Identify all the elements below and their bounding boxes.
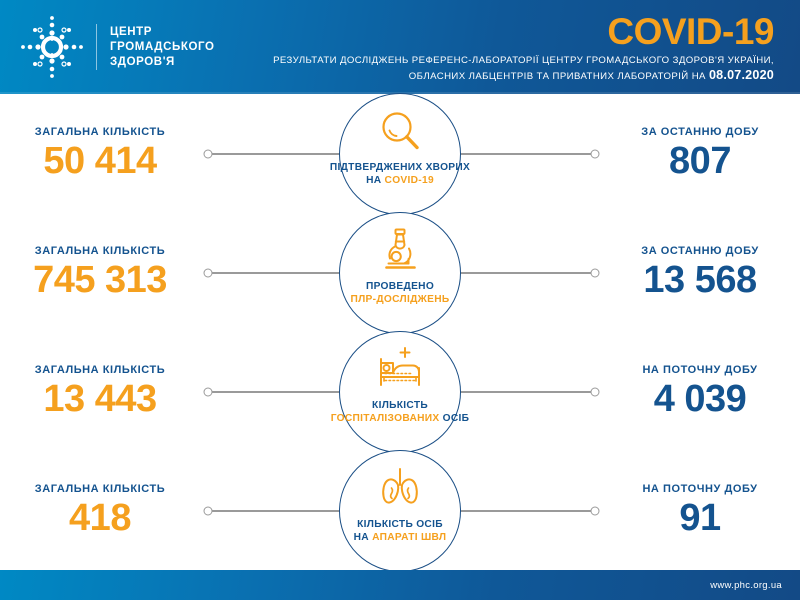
medallion-label-line-2: НА COVID-19 xyxy=(330,174,470,187)
stat-value: 745 313 xyxy=(0,259,200,301)
medallion-label-line-2-highlight: ПЛР-ДОСЛІДЖЕНЬ xyxy=(350,294,449,305)
stat-value: 50 414 xyxy=(0,140,200,182)
medallion-label-line-1: ПІДТВЕРДЖЕНИХ ХВОРИХ xyxy=(330,161,470,174)
connector-line-right xyxy=(447,272,595,274)
stat-medallion-ventilator: КІЛЬКІСТЬ ОСІБ НА АПАРАТІ ШВЛ xyxy=(339,450,461,572)
medallion-label-line-2-highlight: АПАРАТІ ШВЛ xyxy=(372,532,446,543)
stat-row-pcr-tests: ЗАГАЛЬНА КІЛЬКІСТЬ 745 313 xyxy=(0,213,800,332)
stat-medallion-pcr-tests: ПРОВЕДЕНО ПЛР-ДОСЛІДЖЕНЬ xyxy=(339,212,461,334)
header-title-block: COVID-19 РЕЗУЛЬТАТИ ДОСЛІДЖЕНЬ РЕФЕРЕНС-… xyxy=(215,11,800,84)
page-header: ЦЕНТР ГРОМАДСЬКОГО ЗДОРОВ'Я COVID-19 РЕЗ… xyxy=(0,0,800,94)
medallion-label-line-2-suffix: ОСІБ xyxy=(440,413,470,424)
stat-caption: ЗАГАЛЬНА КІЛЬКІСТЬ xyxy=(0,245,200,257)
header-subtitle-line-1: РЕЗУЛЬТАТИ ДОСЛІДЖЕНЬ РЕФЕРЕНС-ЛАБОРАТОР… xyxy=(215,54,774,68)
medallion-label-line-1: КІЛЬКІСТЬ ОСІБ xyxy=(354,518,447,531)
connector-line-right xyxy=(447,391,595,393)
brand-name-line-2: ГРОМАДСЬКОГО xyxy=(110,40,215,55)
stat-caption: ЗАГАЛЬНА КІЛЬКІСТЬ xyxy=(0,364,200,376)
connector-line-right xyxy=(447,153,595,155)
stat-daily-block: ЗА ОСТАННЮ ДОБУ 807 xyxy=(600,126,800,182)
stat-medallion-hospitalized: КІЛЬКІСТЬ ГОСПІТАЛІЗОВАНИХ ОСІБ xyxy=(339,331,461,453)
magnifier-icon xyxy=(372,106,428,156)
footer-website-url[interactable]: www.phc.org.ua xyxy=(710,580,800,591)
medallion-label-line-1: КІЛЬКІСТЬ xyxy=(331,399,470,412)
connector-dot-left xyxy=(204,149,213,158)
infographic-page: ЦЕНТР ГРОМАДСЬКОГО ЗДОРОВ'Я COVID-19 РЕЗ… xyxy=(0,0,800,600)
page-footer: www.phc.org.ua xyxy=(0,570,800,600)
microscope-icon xyxy=(372,225,428,275)
stats-rows: ЗАГАЛЬНА КІЛЬКІСТЬ 50 414 ПІДТВЕРДЖЕНИХ … xyxy=(0,94,800,570)
connector-dot-right xyxy=(591,506,600,515)
connector-line-left xyxy=(208,153,356,155)
stat-total-block: ЗАГАЛЬНА КІЛЬКІСТЬ 418 xyxy=(0,483,200,539)
stat-daily-block: ЗА ОСТАННЮ ДОБУ 13 568 xyxy=(600,245,800,301)
stat-caption: ЗА ОСТАННЮ ДОБУ xyxy=(600,245,800,257)
stat-value: 4 039 xyxy=(600,378,800,420)
header-subtitle-line-2-text: ОБЛАСНИХ ЛАБЦЕНТРІВ ТА ПРИВАТНИХ ЛАБОРАТ… xyxy=(409,71,706,82)
medallion-label: ПІДТВЕРДЖЕНИХ ХВОРИХ НА COVID-19 xyxy=(330,161,470,187)
hospital-bed-icon xyxy=(372,344,428,394)
medallion-label-line-2-prefix: НА xyxy=(366,175,384,186)
stat-caption: НА ПОТОЧНУ ДОБУ xyxy=(600,364,800,376)
connector-dot-left xyxy=(204,506,213,515)
medallion-label-line-2: ПЛР-ДОСЛІДЖЕНЬ xyxy=(350,293,449,306)
stat-caption: ЗА ОСТАННЮ ДОБУ xyxy=(600,126,800,138)
page-title: COVID-19 xyxy=(215,13,774,51)
medallion-label: КІЛЬКІСТЬ ОСІБ НА АПАРАТІ ШВЛ xyxy=(354,518,447,544)
connector-dot-right xyxy=(591,149,600,158)
medallion-label: КІЛЬКІСТЬ ГОСПІТАЛІЗОВАНИХ ОСІБ xyxy=(331,399,470,425)
stat-daily-block: НА ПОТОЧНУ ДОБУ 91 xyxy=(600,483,800,539)
report-date: 08.07.2020 xyxy=(709,68,774,82)
connector-line-left xyxy=(208,391,356,393)
brand-name-line-1: ЦЕНТР xyxy=(110,25,215,40)
medallion-label-line-2: НА АПАРАТІ ШВЛ xyxy=(354,531,447,544)
stat-row-confirmed-cases: ЗАГАЛЬНА КІЛЬКІСТЬ 50 414 ПІДТВЕРДЖЕНИХ … xyxy=(0,94,800,213)
stat-medallion-confirmed-cases: ПІДТВЕРДЖЕНИХ ХВОРИХ НА COVID-19 xyxy=(339,93,461,215)
connector-dot-right xyxy=(591,268,600,277)
medallion-label-line-2-highlight: COVID-19 xyxy=(385,175,434,186)
stat-caption: ЗАГАЛЬНА КІЛЬКІСТЬ xyxy=(0,126,200,138)
radial-dot-burst-logo-icon xyxy=(18,13,86,81)
stat-total-block: ЗАГАЛЬНА КІЛЬКІСТЬ 13 443 xyxy=(0,364,200,420)
brand-logo: ЦЕНТР ГРОМАДСЬКОГО ЗДОРОВ'Я xyxy=(0,13,215,81)
connector-line-left xyxy=(208,510,356,512)
stat-caption: НА ПОТОЧНУ ДОБУ xyxy=(600,483,800,495)
stat-caption: ЗАГАЛЬНА КІЛЬКІСТЬ xyxy=(0,483,200,495)
stat-daily-block: НА ПОТОЧНУ ДОБУ 4 039 xyxy=(600,364,800,420)
medallion-label-line-2: ГОСПІТАЛІЗОВАНИХ ОСІБ xyxy=(331,412,470,425)
connector-line-right xyxy=(447,510,595,512)
brand-name-line-3: ЗДОРОВ'Я xyxy=(110,55,215,70)
connector-dot-right xyxy=(591,387,600,396)
lungs-icon xyxy=(372,463,428,513)
logo-divider xyxy=(96,24,97,70)
connector-dot-left xyxy=(204,268,213,277)
stat-total-block: ЗАГАЛЬНА КІЛЬКІСТЬ 745 313 xyxy=(0,245,200,301)
stat-row-hospitalized: ЗАГАЛЬНА КІЛЬКІСТЬ 13 443 xyxy=(0,332,800,451)
stat-value: 91 xyxy=(600,497,800,539)
medallion-label-line-1: ПРОВЕДЕНО xyxy=(350,280,449,293)
medallion-label: ПРОВЕДЕНО ПЛР-ДОСЛІДЖЕНЬ xyxy=(350,280,449,306)
stat-value: 13 443 xyxy=(0,378,200,420)
stat-value: 13 568 xyxy=(600,259,800,301)
medallion-label-line-2-highlight: ГОСПІТАЛІЗОВАНИХ xyxy=(331,413,440,424)
stat-row-ventilator: ЗАГАЛЬНА КІЛЬКІСТЬ 418 xyxy=(0,451,800,570)
header-subtitle-line-2: ОБЛАСНИХ ЛАБЦЕНТРІВ ТА ПРИВАТНИХ ЛАБОРАТ… xyxy=(215,68,774,84)
medallion-label-line-2-prefix: НА xyxy=(354,532,372,543)
stat-value: 807 xyxy=(600,140,800,182)
stat-total-block: ЗАГАЛЬНА КІЛЬКІСТЬ 50 414 xyxy=(0,126,200,182)
connector-line-left xyxy=(208,272,356,274)
brand-name: ЦЕНТР ГРОМАДСЬКОГО ЗДОРОВ'Я xyxy=(110,25,215,70)
connector-dot-left xyxy=(204,387,213,396)
stat-value: 418 xyxy=(0,497,200,539)
